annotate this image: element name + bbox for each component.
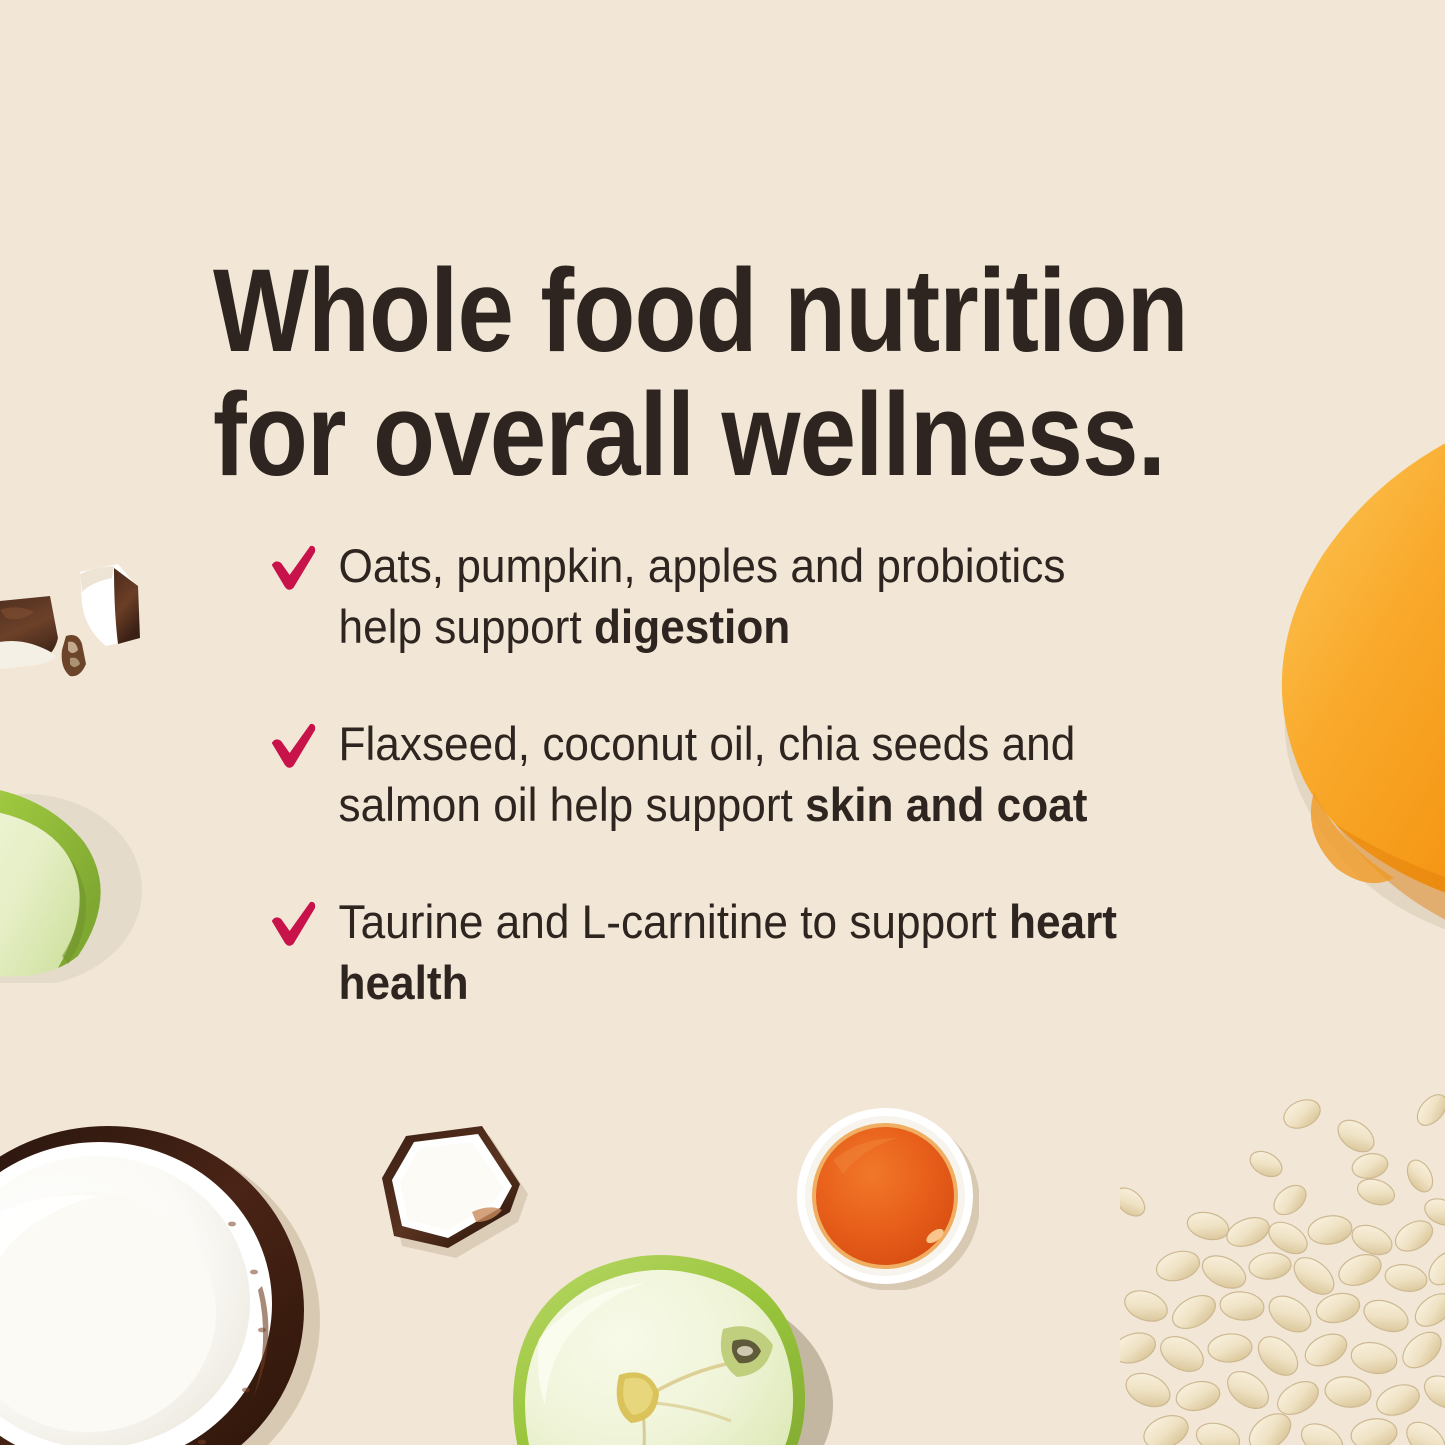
list-item-emphasis: digestion (594, 600, 790, 653)
list-item-emphasis: skin and coat (805, 778, 1087, 831)
page-title: Whole food nutrition for overall wellnes… (213, 249, 1159, 497)
apple-slice-icon (0, 778, 172, 983)
list-item-text: Taurine and L-carnitine to support (339, 895, 1009, 948)
list-item: Flaxseed, coconut oil, chia seeds and sa… (268, 713, 1142, 835)
headline-line-2: for overall wellness. (213, 373, 1159, 497)
promo-banner: Whole food nutrition for overall wellnes… (0, 0, 1445, 1445)
check-icon (268, 721, 319, 771)
rolled-oats-icon (1120, 1080, 1445, 1445)
check-icon (268, 543, 319, 593)
pumpkin-half-icon (1218, 392, 1445, 944)
list-item: Taurine and L-carnitine to support heart… (268, 891, 1142, 1013)
headline-line-1: Whole food nutrition (213, 249, 1159, 373)
coconut-half-icon (0, 1104, 322, 1445)
benefits-list: Oats, pumpkin, apples and probiotics hel… (268, 535, 1198, 1013)
coconut-chunks-icon (0, 552, 168, 694)
list-item: Oats, pumpkin, apples and probiotics hel… (268, 535, 1142, 657)
check-icon (268, 899, 319, 949)
coconut-chunk-icon (372, 1122, 547, 1262)
apple-half-icon (505, 1253, 835, 1445)
